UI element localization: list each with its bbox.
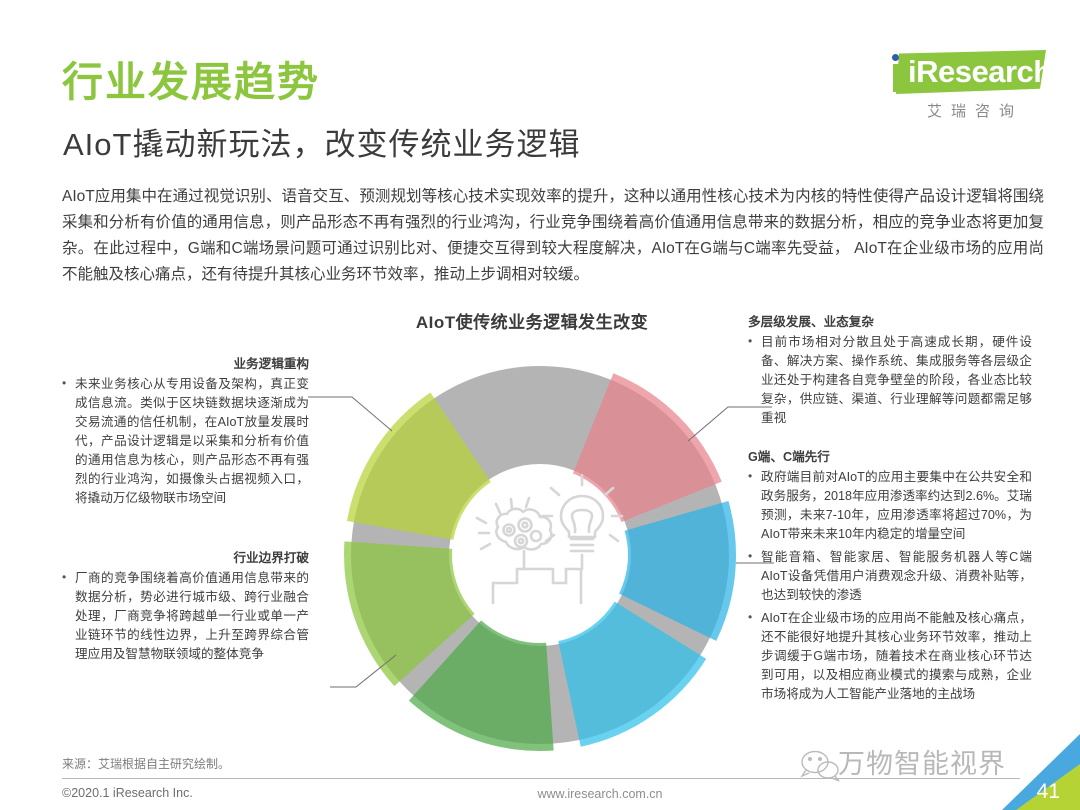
footer-divider [62,778,1020,779]
logo-i-stem-icon [893,64,899,92]
text-block-gc-first: G端、C端先行 政府端目前对AIoT的应用主要集中在公共安全和政务服务，2018… [748,448,1032,708]
list-item: 厂商的竞争围绕着高价值通用信息带来的数据分析，势必进行城市级、跨行业融合处理，厂… [62,569,309,664]
block-heading: G端、C端先行 [748,448,1032,467]
page-subtitle: AIoT撬动新玩法，改变传统业务逻辑 [63,126,580,163]
list-item: 目前市场相对分散且处于高速成长期，硬件设备、解决方案、操作系统、集成服务等各层级… [748,333,1032,428]
block-list: 政府端目前对AIoT的应用主要集中在公共安全和政务服务，2018年应用渗透率约达… [748,468,1032,704]
leader-line-top-left [308,397,392,431]
website-url-text: www.iresearch.com.cn [537,787,662,801]
page-number: 41 [1037,780,1060,804]
chart-title-text: AIoT使传统业务逻辑发生改变 [416,313,648,332]
block-list: 未来业务核心从专用设备及架构，真正变成信息流。类似于区块链数据块逐渐成为交易流通… [62,375,309,508]
wechat-icon [798,748,842,782]
logo-chinese-name: 艾瑞咨询 [900,100,1050,121]
block-heading: 行业边界打破 [62,549,309,568]
block-list: 目前市场相对分散且处于高速成长期，硬件设备、解决方案、操作系统、集成服务等各层级… [748,333,1032,428]
section-title: 行业发展趋势 [62,62,320,103]
list-item: 政府端目前对AIoT的应用主要集中在公共安全和政务服务，2018年应用渗透率约达… [748,468,1032,544]
logo-i-dot-icon [892,54,899,61]
leader-line-bottom-left [330,655,396,687]
source-note: 来源：艾瑞根据自主研究绘制。 [62,755,230,772]
list-item: 未来业务核心从专用设备及架构，真正变成信息流。类似于区块链数据块逐渐成为交易流通… [62,375,309,508]
website-url: www.iresearch.com.cn [0,787,1080,801]
list-item: 智能音箱、智能家居、智能服务机器人等C端AIoT设备凭借用户消费观念升级、消费补… [748,548,1032,605]
corner-decoration-icon [972,734,1080,810]
leader-line-top-right [688,407,772,441]
list-item: AIoT在企业级市场的应用尚不能触及核心痛点，还不能很好地提升其核心业务环节效率… [748,609,1032,704]
slide-page: 行业发展趋势 AIoT撬动新玩法，改变传统业务逻辑 iResearch 艾瑞咨询… [0,0,1080,810]
block-list: 厂商的竞争围绕着高价值通用信息带来的数据分析，势必进行城市级、跨行业融合处理，厂… [62,569,309,664]
logo-mark: iResearch [878,48,1048,98]
text-block-multilevel: 多层级发展、业态复杂 目前市场相对分散且处于高速成长期，硬件设备、解决方案、操作… [748,313,1032,432]
donut-petal-diagram [300,355,780,765]
block-heading: 业务逻辑重构 [62,355,309,374]
leader-lines [300,355,780,765]
text-block-business-logic: 业务逻辑重构 未来业务核心从专用设备及架构，真正变成信息流。类似于区块链数据块逐… [62,355,309,512]
iresearch-logo: iResearch 艾瑞咨询 [878,48,1058,126]
block-heading: 多层级发展、业态复杂 [748,313,1032,332]
text-block-industry-boundary: 行业边界打破 厂商的竞争围绕着高价值通用信息带来的数据分析，势必进行城市级、跨行… [62,549,309,668]
intro-paragraph: AIoT应用集中在通过视觉识别、语音交互、预测规划等核心技术实现效率的提升，这种… [62,184,1044,288]
logo-wordmark: iResearch [908,54,1052,90]
